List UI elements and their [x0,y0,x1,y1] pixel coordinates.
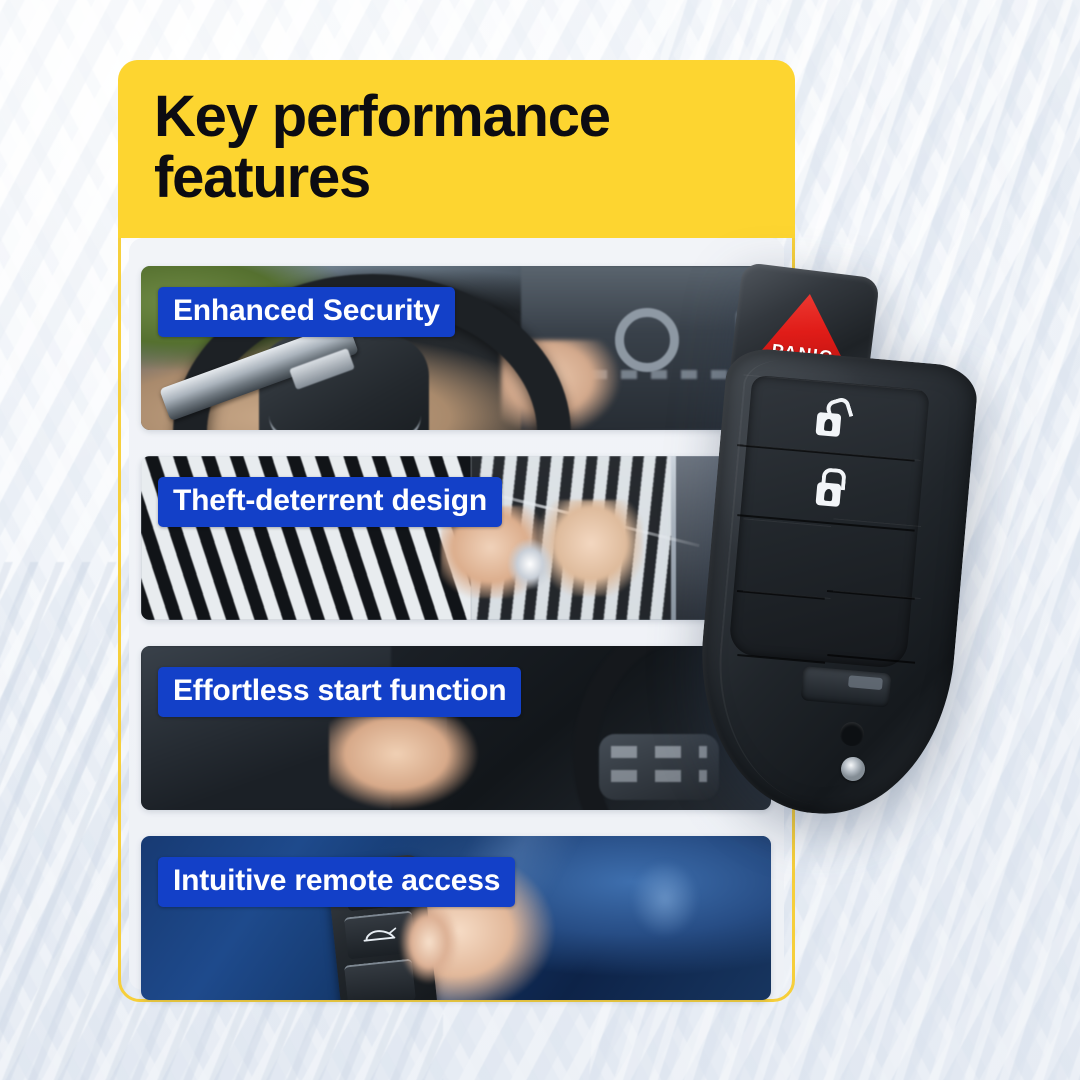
feature-badge-enhanced-security: Enhanced Security [158,287,455,337]
feature-card-effortless-start-function[interactable]: Effortless start function [141,646,771,810]
car-icon [361,923,399,950]
keyring-keys [507,538,553,590]
thumb [399,900,459,984]
console-button-row-top [611,746,707,758]
feature-card-theft-deterrent-design[interactable]: Theft-deterrent design [141,456,771,620]
feature-card-intuitive-remote-access[interactable]: Intuitive remote access [141,836,771,1000]
blank-button-right[interactable] [827,518,921,599]
page-title: Key performance features [154,86,773,209]
header-banner: Key performance features [118,60,795,238]
feature-card-list: Enhanced Security Theft-deterrent design [141,266,771,1026]
poster-canvas: Key performance features Enhanced Securi… [0,0,1080,1080]
steering-wheel-trim [269,394,421,430]
hand-on-ignition [329,708,479,810]
lock-icon [812,467,845,507]
lock-button[interactable] [737,444,921,531]
unlock-icon [812,397,845,437]
key-fob-product-image: PANIC [700,270,968,815]
blank-button-lower-right[interactable] [827,590,920,663]
feature-card-enhanced-security[interactable]: Enhanced Security [141,266,771,430]
dashboard-dial-icon [615,308,679,372]
feature-badge-effortless-start-function: Effortless start function [158,667,521,717]
right-hand [539,500,643,596]
feature-badge-intuitive-remote-access: Intuitive remote access [158,857,515,907]
console-button-row-bottom [611,770,707,782]
blank-button-lower-left[interactable] [737,590,830,663]
blank-button-left[interactable] [737,518,831,599]
feature-badge-theft-deterrent-design: Theft-deterrent design [158,477,502,527]
bokeh-glow [617,844,713,954]
